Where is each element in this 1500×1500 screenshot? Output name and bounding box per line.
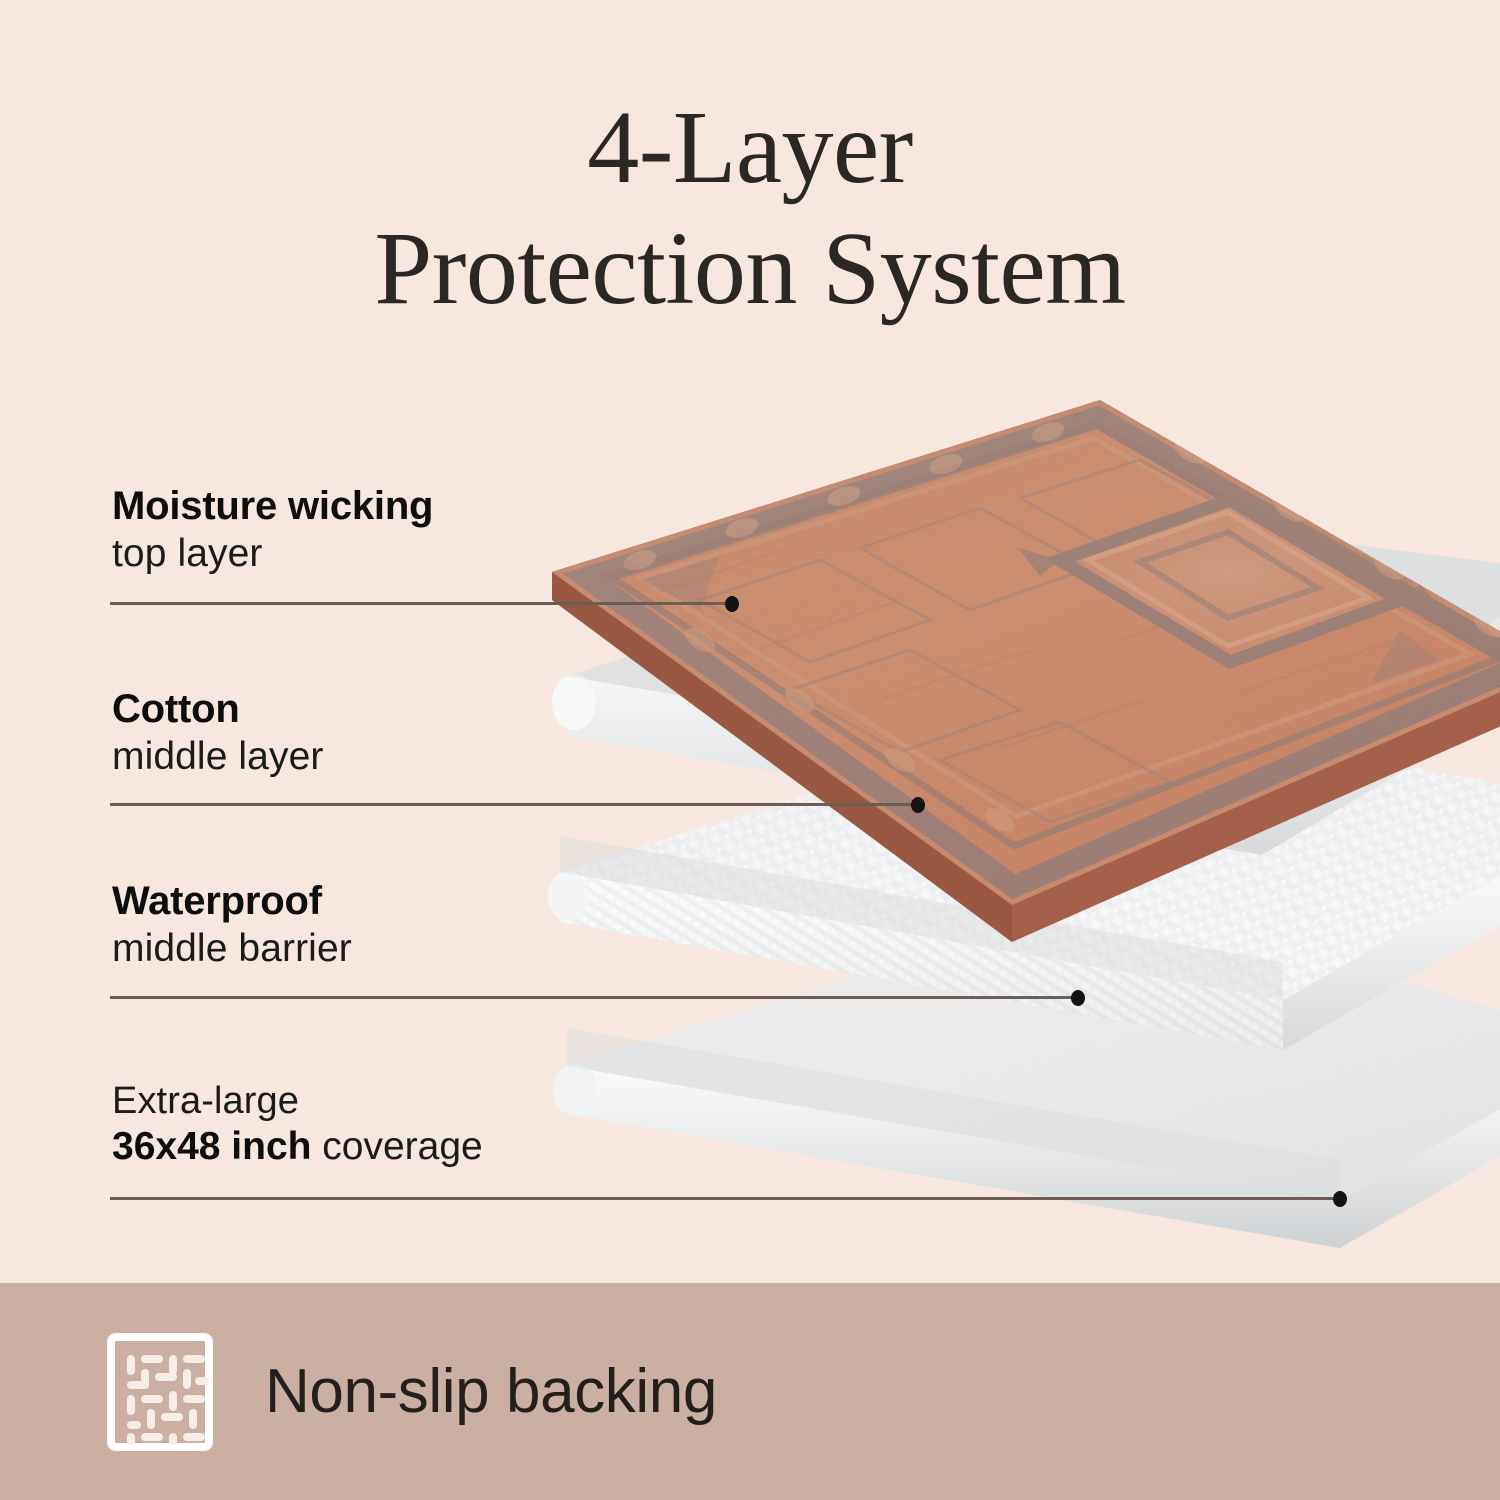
leader-dot-1 bbox=[725, 596, 739, 612]
leader-dot-2 bbox=[911, 797, 925, 813]
callout-3-sub: middle barrier bbox=[112, 925, 352, 973]
page-title: 4-Layer Protection System bbox=[0, 88, 1500, 329]
callout-1-sub: top layer bbox=[112, 530, 433, 578]
callout-moisture-wicking: Moisture wicking top layer bbox=[112, 482, 433, 578]
callout-4-kicker: Extra-large bbox=[112, 1079, 483, 1123]
title-line-2: Protection System bbox=[0, 209, 1500, 330]
callout-3-head: Waterproof bbox=[112, 877, 352, 925]
leader-line-4 bbox=[110, 1197, 1340, 1200]
cotton-batting-layer bbox=[552, 512, 1500, 1000]
basket-weave-icon bbox=[107, 1333, 213, 1451]
leader-line-2 bbox=[110, 803, 918, 806]
waterproof-textured-layer bbox=[548, 706, 1500, 1200]
callout-cotton: Cotton middle layer bbox=[112, 685, 323, 781]
printed-rug-top-layer bbox=[552, 400, 1500, 942]
callout-4-coverage-word: coverage bbox=[311, 1125, 482, 1168]
callout-4-dimensions: 36x48 inch bbox=[112, 1125, 311, 1168]
leader-dot-4 bbox=[1333, 1191, 1347, 1207]
non-slip-backing-bar: Non-slip backing bbox=[0, 1283, 1500, 1500]
leader-line-1 bbox=[110, 602, 732, 605]
callout-coverage: Extra-large 36x48 inch coverage bbox=[112, 1079, 483, 1171]
leader-dot-3 bbox=[1071, 990, 1085, 1006]
callout-1-head: Moisture wicking bbox=[112, 482, 433, 530]
callout-waterproof: Waterproof middle barrier bbox=[112, 877, 352, 973]
title-line-1: 4-Layer bbox=[0, 88, 1500, 209]
callout-4-sub: 36x48 inch coverage bbox=[112, 1123, 483, 1171]
leader-line-3 bbox=[110, 996, 1078, 999]
non-slip-base-layer bbox=[553, 895, 1500, 1248]
callout-2-sub: middle layer bbox=[112, 733, 323, 781]
callout-2-head: Cotton bbox=[112, 685, 323, 733]
non-slip-backing-label: Non-slip backing bbox=[265, 1356, 717, 1427]
product-infographic: 4-Layer Protection System bbox=[0, 0, 1500, 1500]
